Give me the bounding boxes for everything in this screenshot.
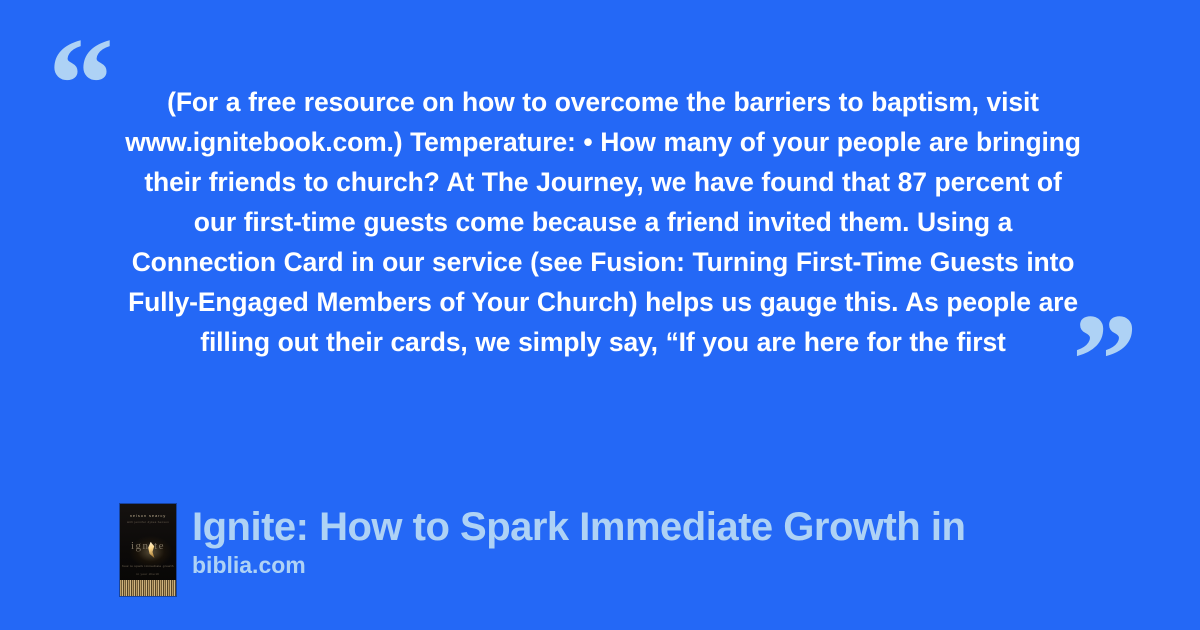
matchsticks-graphic: [120, 580, 176, 596]
book-cover-subtitle-2: in your church: [120, 572, 176, 576]
footer: nelson searcy with jennifer dykes henson…: [120, 504, 965, 596]
footer-text: Ignite: How to Spark Immediate Growth in…: [192, 504, 965, 579]
quote-card: “ (For a free resource on how to overcom…: [0, 0, 1200, 630]
book-cover-kicker: with jennifer dykes henson: [120, 520, 176, 524]
close-quote-icon: ”: [1072, 294, 1138, 426]
open-quote-icon: “: [48, 18, 114, 150]
book-cover-thumbnail[interactable]: nelson searcy with jennifer dykes henson…: [120, 504, 176, 596]
book-cover-author: nelson searcy: [120, 513, 176, 518]
book-cover-subtitle: how to spark immediate growth: [120, 564, 176, 568]
book-cover-title: ignite: [120, 540, 176, 552]
quote-block: “ (For a free resource on how to overcom…: [0, 0, 1200, 460]
site-name[interactable]: biblia.com: [192, 551, 965, 579]
book-title: Ignite: How to Spark Immediate Growth in: [192, 504, 965, 551]
quote-text: (For a free resource on how to overcome …: [120, 82, 1086, 362]
